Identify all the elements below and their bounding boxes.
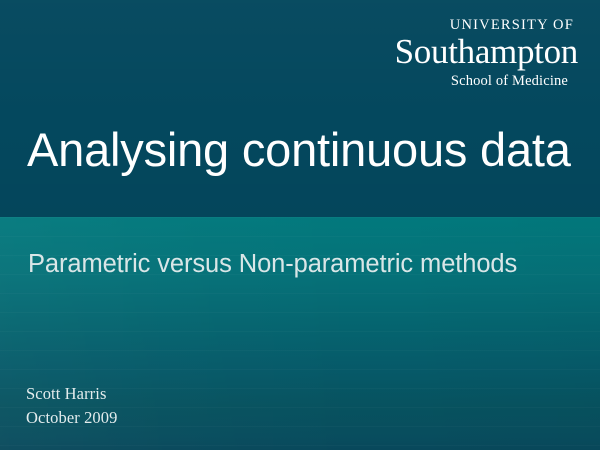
title-slide: UNIVERSITY OF Southampton School of Medi… xyxy=(0,0,600,450)
university-logo: UNIVERSITY OF Southampton School of Medi… xyxy=(278,18,578,89)
author-name: Scott Harris xyxy=(26,382,117,406)
slide-subtitle: Parametric versus Non-parametric methods xyxy=(28,249,584,280)
logo-wordmark: Southampton xyxy=(278,34,578,70)
logo-university-line: UNIVERSITY OF xyxy=(278,18,574,33)
slide-title: Analysing continuous data xyxy=(27,122,579,177)
logo-faculty-line: School of Medicine xyxy=(278,74,568,89)
presentation-date: October 2009 xyxy=(26,406,117,430)
author-block: Scott Harris October 2009 xyxy=(26,382,117,430)
